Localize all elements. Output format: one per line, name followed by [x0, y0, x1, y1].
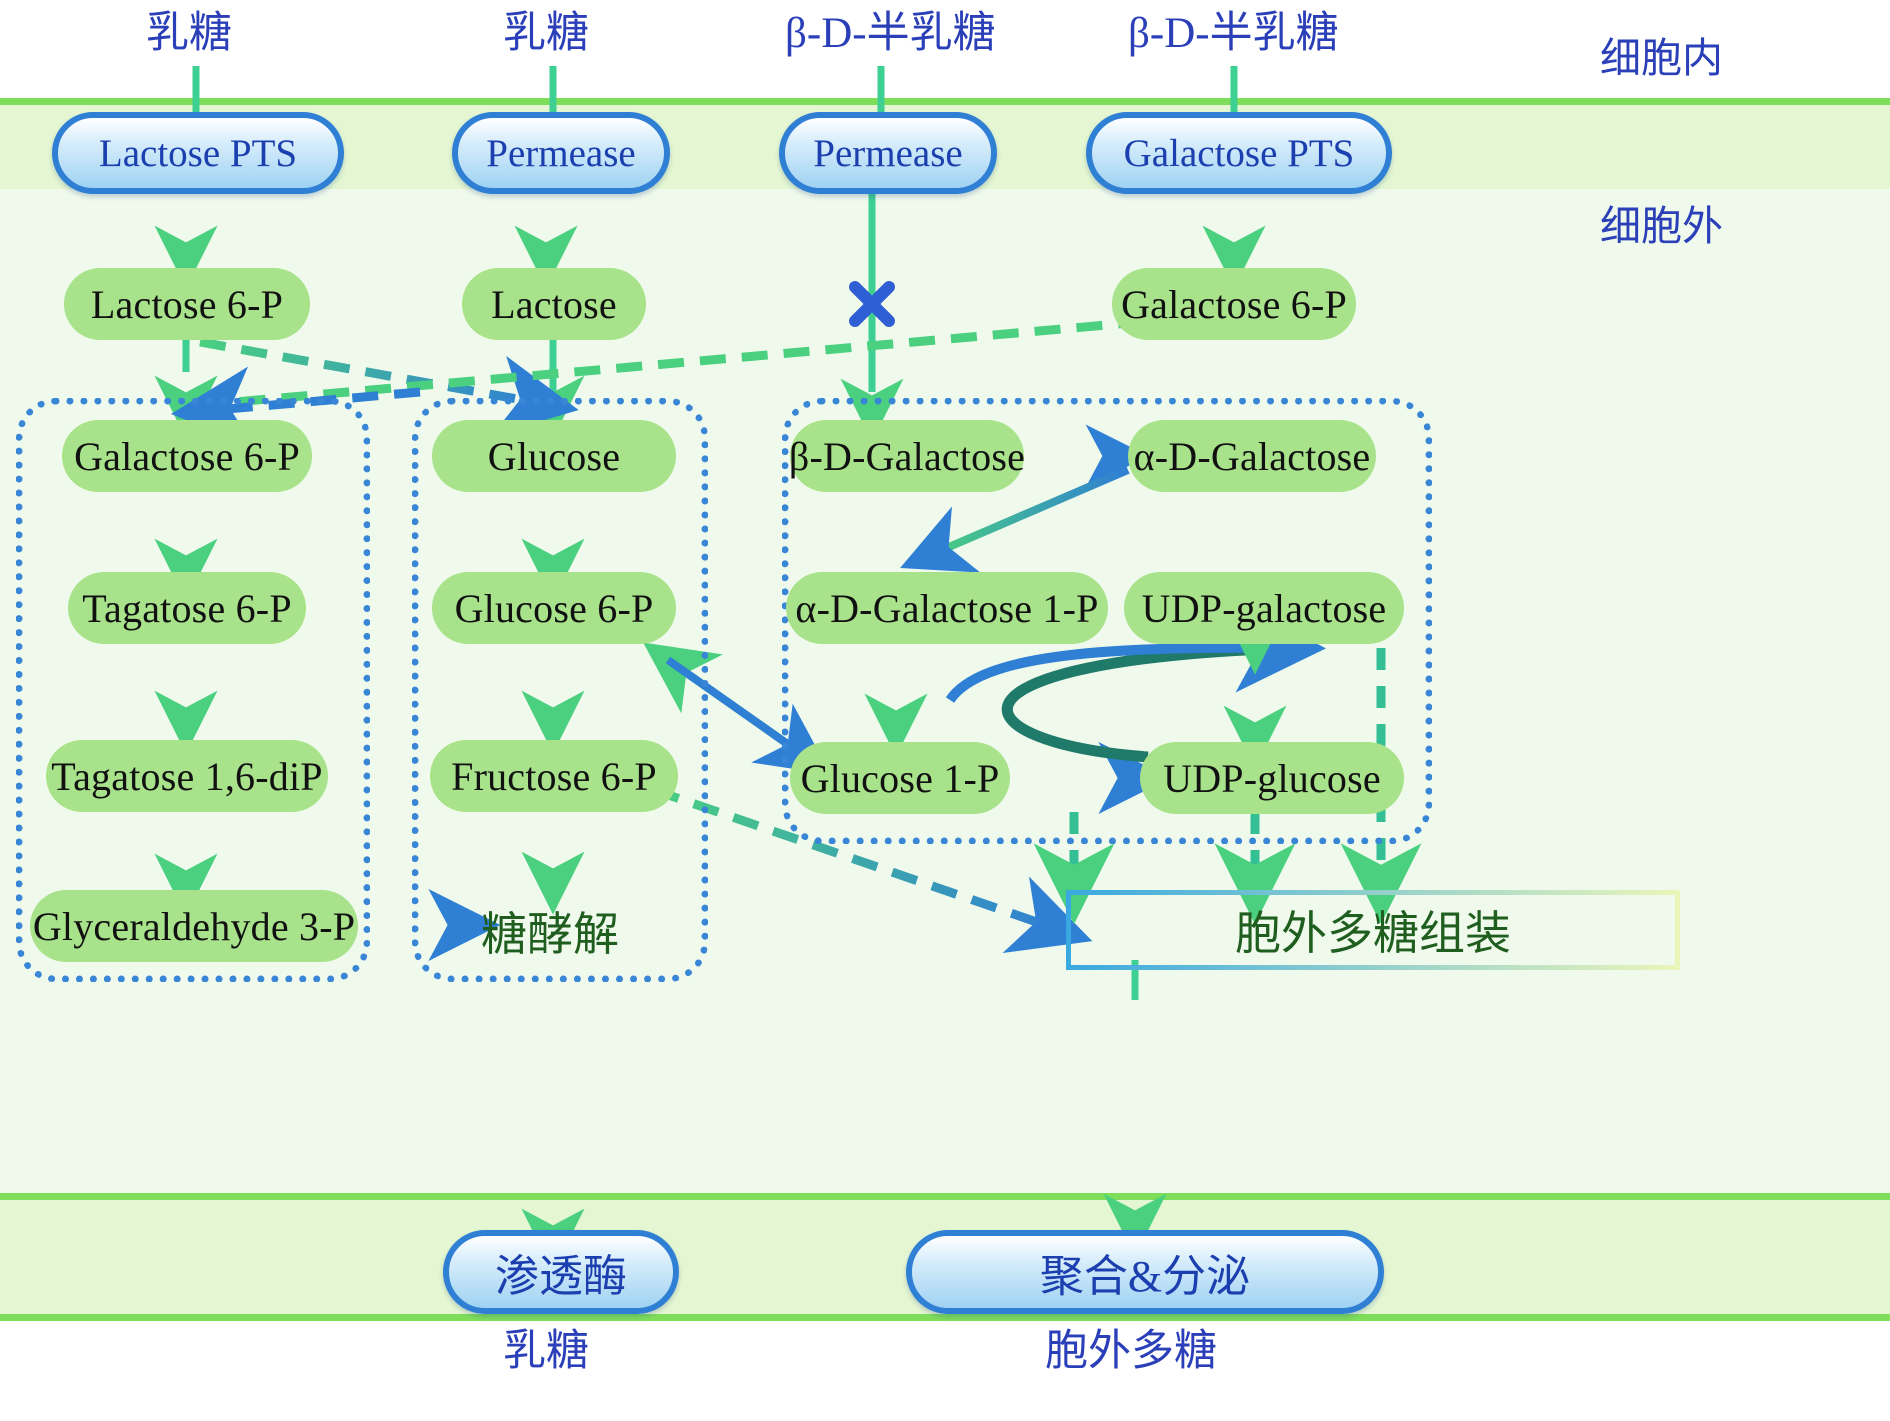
- metabolite-glucose-1p[interactable]: Glucose 1-P: [790, 742, 1010, 814]
- metabolite-lactose[interactable]: Lactose: [462, 268, 646, 340]
- product-label-eps: 胞外多糖: [1045, 1330, 1217, 1373]
- transporter-permease-1[interactable]: Permease: [452, 112, 670, 194]
- metabolite-glucose-6p[interactable]: Glucose 6-P: [432, 572, 676, 644]
- transporter-lactose-pts[interactable]: Lactose PTS: [52, 112, 344, 194]
- product-label-lactose: 乳糖: [503, 1330, 589, 1373]
- output-permease[interactable]: 渗透酶: [443, 1230, 679, 1314]
- pathway-diagram: 乳糖 乳糖 β-D-半乳糖 β-D-半乳糖 细胞内 细胞外 乳糖 胞外多糖 La…: [0, 0, 1890, 1421]
- metabolite-glucose[interactable]: Glucose: [432, 420, 676, 492]
- metabolite-glyceraldehyde-3p[interactable]: Glyceraldehyde 3-P: [30, 890, 358, 962]
- metabolite-galactose-6p[interactable]: Galactose 6-P: [62, 420, 312, 492]
- metabolite-udp-glucose[interactable]: UDP-glucose: [1140, 742, 1404, 814]
- metabolite-tagatose-6p[interactable]: Tagatose 6-P: [68, 572, 306, 644]
- transporter-galactose-pts[interactable]: Galactose PTS: [1086, 112, 1392, 194]
- region-label-extracellular: 细胞外: [1600, 206, 1723, 247]
- output-polymerization-secretion[interactable]: 聚合&分泌: [906, 1230, 1384, 1314]
- substrate-label-lactose-2: 乳糖: [503, 12, 589, 55]
- metabolite-fructose-6p[interactable]: Fructose 6-P: [430, 740, 678, 812]
- process-label-glycolysis: 糖酵解: [481, 898, 619, 964]
- metabolite-lactose-6p[interactable]: Lactose 6-P: [64, 268, 310, 340]
- metabolite-alpha-d-galactose-1p[interactable]: α-D-Galactose 1-P: [786, 572, 1108, 644]
- substrate-label-beta-d-galactose-1: β-D-半乳糖: [785, 12, 996, 55]
- transporter-permease-2[interactable]: Permease: [779, 112, 997, 194]
- metabolite-galactose-6p-outer[interactable]: Galactose 6-P: [1112, 268, 1356, 340]
- metabolite-udp-galactose[interactable]: UDP-galactose: [1124, 572, 1404, 644]
- region-label-intracellular: 细胞内: [1600, 38, 1723, 79]
- substrate-label-beta-d-galactose-2: β-D-半乳糖: [1128, 12, 1339, 55]
- substrate-label-lactose-1: 乳糖: [146, 12, 232, 55]
- metabolite-tagatose-16dip[interactable]: Tagatose 1,6-diP: [46, 740, 328, 812]
- metabolite-alpha-d-galactose[interactable]: α-D-Galactose: [1128, 420, 1376, 492]
- metabolite-beta-d-galactose[interactable]: β-D-Galactose: [790, 420, 1024, 492]
- process-box-eps-assembly[interactable]: 胞外多糖组装: [1066, 890, 1680, 970]
